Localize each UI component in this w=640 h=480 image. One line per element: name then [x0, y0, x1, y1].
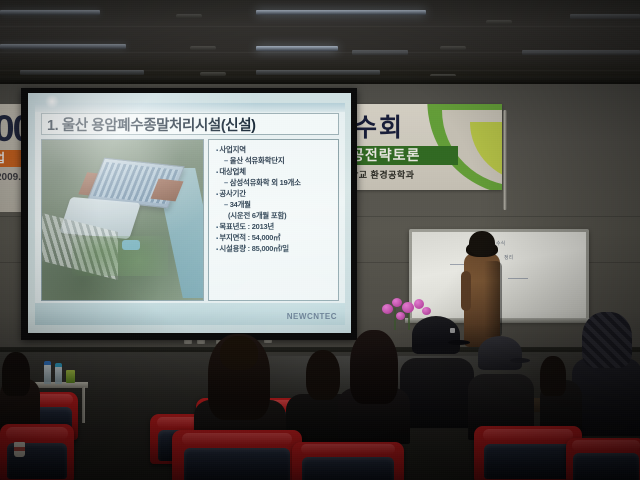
person-torso	[400, 358, 474, 428]
audience-member	[342, 330, 406, 438]
list-item: (시운전 6개월 포함)	[213, 211, 336, 222]
list-item: 34개월	[213, 200, 336, 211]
banner-subtitle-box: 공전략토론	[352, 146, 458, 165]
bottle-cap	[55, 363, 62, 367]
list-item: 사업지역	[213, 145, 336, 156]
table-leg	[82, 387, 85, 423]
slide-title: 1. 울산 용암폐수종말처리시설(신설)	[42, 114, 256, 135]
ceiling-light	[256, 46, 338, 51]
person-head	[220, 336, 258, 370]
list-item: 목표년도 : 2013년	[213, 222, 336, 233]
projection-screen-frame: 1. 울산 용암폐수종말처리시설(신설)	[21, 88, 357, 340]
baseball-cap	[478, 336, 522, 370]
ceiling	[0, 0, 640, 84]
person-hair	[350, 330, 398, 404]
auditorium-seat	[292, 442, 404, 480]
presenter-shading	[484, 261, 502, 337]
auditorium-seat	[566, 438, 640, 480]
slide-bullet-list: 사업지역 울산 석유화학단지 대상업체 삼성석유화학 외 19개소 공사기간 3…	[208, 139, 339, 301]
ceiling-light	[256, 70, 380, 75]
person-hair	[540, 356, 566, 396]
presenter-head	[469, 231, 495, 256]
ceiling-light	[256, 10, 426, 15]
bottle-cap	[44, 361, 51, 365]
audience-member	[470, 336, 532, 436]
banner-title: 수회	[354, 108, 404, 144]
water-bottle	[44, 364, 51, 384]
auditorium-seat	[0, 424, 74, 480]
ceiling-vent	[176, 14, 202, 18]
audience-member	[196, 334, 286, 444]
person-hair	[2, 352, 30, 396]
audience-member	[576, 312, 640, 432]
ceiling-vent	[190, 46, 216, 50]
baseball-cap	[412, 316, 460, 354]
person-head	[306, 350, 340, 400]
slide-top-band	[35, 103, 345, 112]
presentation-slide: 1. 울산 용암폐수종말처리시설(신설)	[35, 103, 345, 325]
whiteboard-writing: 정리	[504, 254, 513, 261]
ceiling-light	[352, 50, 408, 55]
coffee-cup-band	[14, 447, 25, 451]
ceiling-light	[522, 50, 640, 55]
flower-bloom	[402, 302, 414, 313]
flower-bloom	[382, 304, 393, 314]
banner-subtitle: 공전략토론	[352, 147, 420, 163]
audience-member	[404, 316, 470, 426]
audience-member	[0, 352, 42, 432]
list-item: 울산 석유화학단지	[213, 156, 336, 167]
photo-projection-haze	[42, 140, 203, 300]
flower-bloom	[422, 307, 431, 315]
whiteboard-line	[508, 278, 528, 279]
projector-hotspot	[44, 95, 60, 108]
slide-photo	[41, 139, 204, 301]
list-item: 삼성석유화학 외 19개소	[213, 178, 336, 189]
lecture-hall-scene: 00 업 2009. 수회 공전략토론 학교 환경공학과 1. 울산 용암폐수종…	[0, 0, 640, 480]
banner-left-year: 2009.	[0, 172, 21, 183]
water-bottle	[55, 366, 62, 384]
cap-brim	[448, 340, 470, 345]
banner-affiliation: 학교 환경공학과	[352, 168, 414, 181]
slide-logo: NEWCNTEC	[287, 312, 337, 321]
ceiling-vent	[486, 20, 512, 24]
ceiling-vent	[440, 46, 466, 50]
list-item: 공사기간	[213, 189, 336, 200]
list-item: 대상업체	[213, 167, 336, 178]
list-item: 부지면적 : 54,000㎡	[213, 233, 336, 244]
ceiling-light	[0, 44, 126, 49]
slide-title-box: 1. 울산 용암폐수종말처리시설(신설)	[41, 113, 339, 135]
presenter-arm	[461, 271, 471, 311]
auditorium-seat	[172, 430, 302, 480]
audience-member	[540, 356, 580, 436]
flower-bloom	[392, 298, 402, 307]
list-item: 시설용량 : 85,000㎡/일	[213, 244, 336, 255]
ceiling-light	[0, 10, 100, 15]
person-torso	[572, 358, 640, 436]
person-hood	[582, 312, 632, 368]
cap-logo-icon	[450, 328, 455, 333]
cap-brim	[510, 358, 530, 363]
beverage-carton	[66, 370, 75, 383]
ceiling-light	[570, 14, 640, 19]
banner-pole	[503, 110, 507, 210]
slide-body: 사업지역 울산 석유화학단지 대상업체 삼성석유화학 외 19개소 공사기간 3…	[41, 139, 339, 301]
banner-right: 수회 공전략토론 학교 환경공학과	[352, 104, 502, 190]
ceiling-light	[20, 70, 144, 75]
projection-screen: 1. 울산 용암폐수종말처리시설(신설)	[28, 93, 351, 333]
